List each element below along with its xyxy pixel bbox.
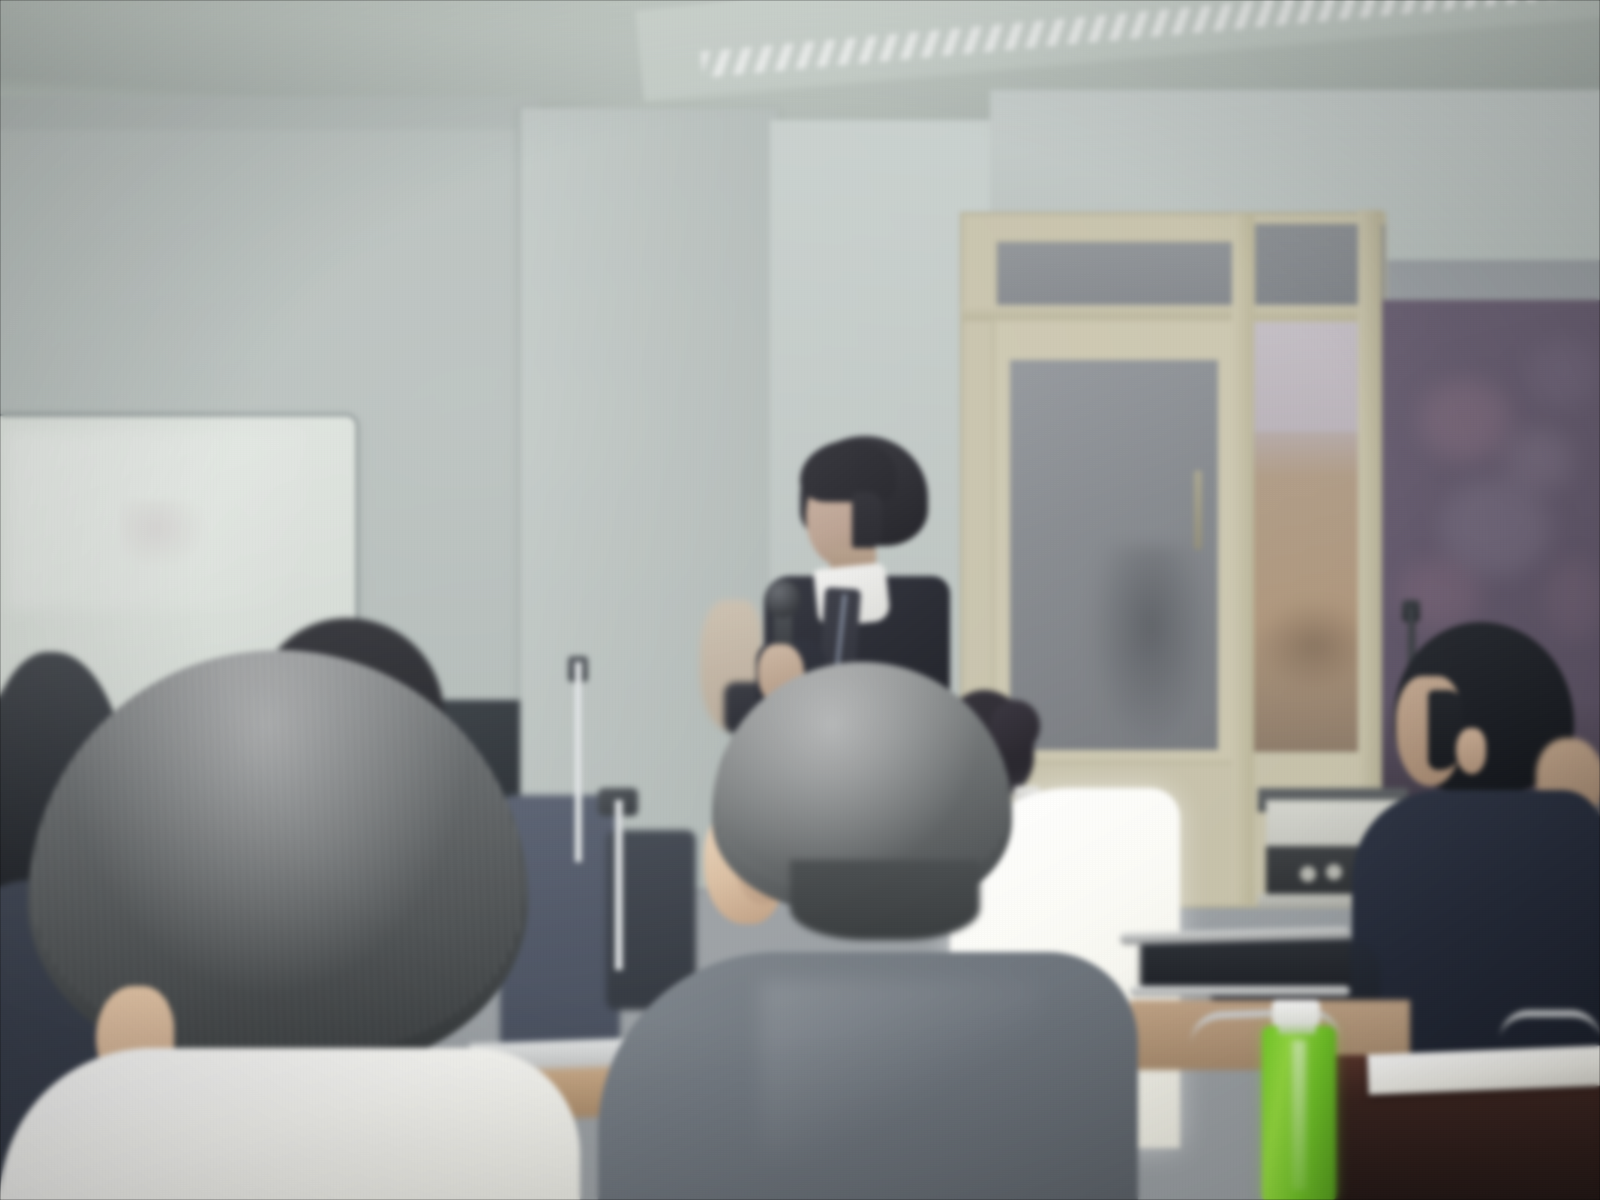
panel-pattern-blob (1420, 380, 1510, 460)
transom-window-left (995, 240, 1239, 309)
whiteboard-marking (120, 500, 210, 570)
microphone-icon[interactable] (766, 580, 800, 618)
left-attendee-white-shirt (0, 1048, 580, 1200)
chair-frame-rail (1130, 986, 1350, 996)
photo-scene: Conference room presentation Blurry indo… (0, 0, 1600, 1200)
panel-pattern-blob (1545, 560, 1600, 640)
av-knob-icon[interactable] (1300, 866, 1316, 882)
center-attendee-nape (790, 860, 980, 940)
panel-pattern-blob (1440, 480, 1550, 575)
av-knob-icon[interactable] (1326, 864, 1342, 880)
suit-highlight (760, 980, 1040, 1160)
door-handle[interactable] (1194, 470, 1202, 550)
bottle-cap[interactable] (1272, 1000, 1320, 1026)
mic-stand (575, 662, 582, 862)
panel-pattern-blob (1505, 430, 1573, 490)
chair-seat (1140, 938, 1350, 990)
panel-pattern-blob (1528, 340, 1600, 406)
silhouette-behind-glass (1090, 545, 1210, 745)
mic-stand-secondary (615, 800, 623, 970)
chair-frame (1500, 1010, 1600, 1039)
speaker-sideburn (852, 492, 882, 552)
chairs-behind-glass (1256, 600, 1372, 690)
right-attendee-ear (1456, 728, 1486, 774)
bottle-highlight (1292, 1040, 1306, 1190)
partition-mullion-vertical (1232, 214, 1254, 904)
side-panel-upper-shade (1254, 322, 1374, 432)
woman-hair-bun (990, 700, 1040, 752)
